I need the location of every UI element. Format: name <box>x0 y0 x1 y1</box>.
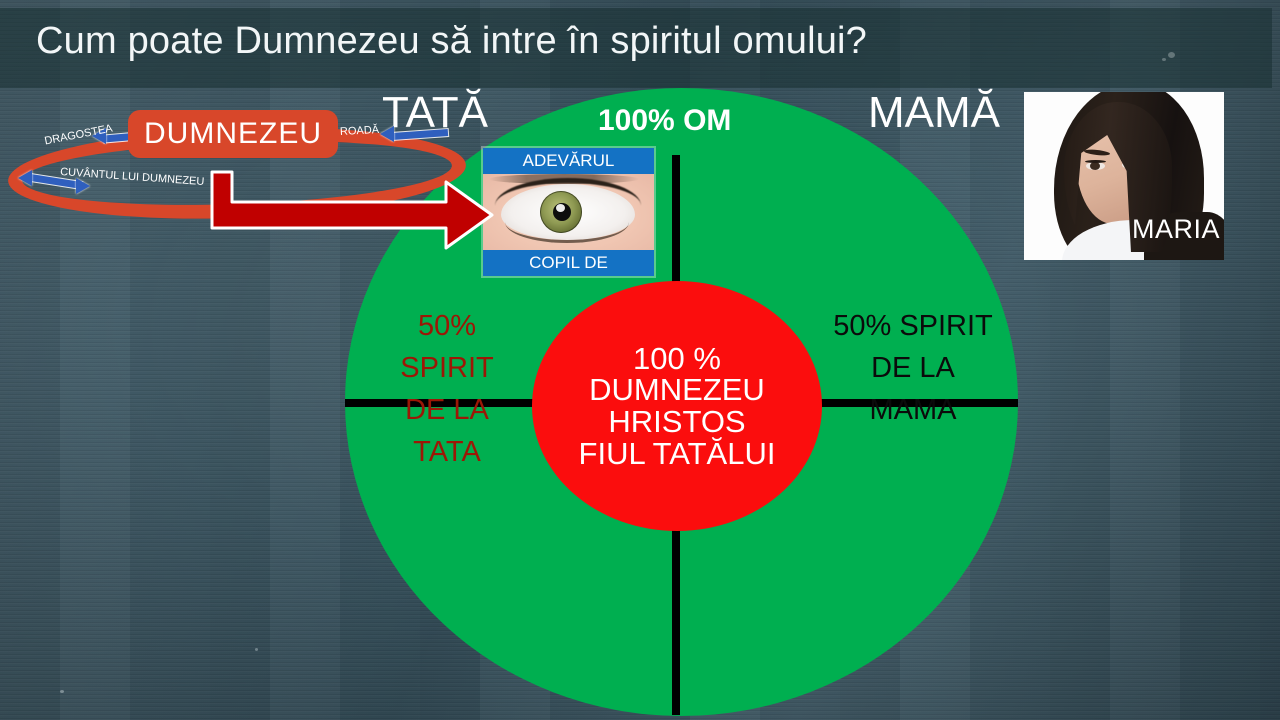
background-speck <box>255 648 258 651</box>
center-line1: 100 % <box>633 343 721 375</box>
center-christ-circle: 100 % DUMNEZEU HRISTOS FIUL TATĂLUI <box>532 281 822 531</box>
center-line4: FIUL TATĂLUI <box>579 438 776 470</box>
left-eyebrow-shape <box>1084 149 1110 157</box>
quadrant-label-mother-spirit: 50% SPIRIT DE LA MAMA <box>828 305 998 431</box>
background-speck <box>60 690 64 693</box>
truth-eye-card: ADEVĂRUL COPIL DE DUMNEZEU <box>483 148 654 276</box>
eye-card-top-label: ADEVĂRUL <box>483 148 654 174</box>
eye-photo <box>483 174 654 250</box>
quadrant-mother-line1: 50% SPIRIT <box>828 305 998 347</box>
label-mother: MAMĂ <box>868 88 1000 138</box>
tag-roada: ROADĂ <box>340 124 380 138</box>
god-to-spirit-arrow-icon <box>206 170 496 260</box>
eye-card-bottom-label: COPIL DE DUMNEZEU <box>483 250 654 276</box>
god-name-badge: DUMNEZEU <box>128 110 338 158</box>
center-line3: HRISTOS <box>608 406 745 438</box>
page-title: Cum poate Dumnezeu să intre în spiritul … <box>36 20 1136 63</box>
lower-eyelash <box>505 218 629 243</box>
quadrant-father-line1: 50% SPIRIT <box>372 305 522 389</box>
left-eye-shape <box>1086 162 1105 170</box>
quadrant-father-line2: DE LA TATA <box>372 389 522 473</box>
maria-label: MARIA <box>1132 214 1220 245</box>
center-line2: DUMNEZEU <box>589 374 765 406</box>
maria-photo-card: MARIA <box>1024 92 1224 260</box>
left-eyelid-shape <box>1085 160 1106 163</box>
label-100-percent-human: 100% OM <box>598 104 731 138</box>
slide-canvas: Cum poate Dumnezeu să intre în spiritul … <box>0 0 1280 720</box>
quadrant-label-father-spirit: 50% SPIRIT DE LA TATA <box>372 305 522 473</box>
quadrant-mother-line2: DE LA MAMA <box>828 347 998 431</box>
god-name-label: DUMNEZEU <box>144 117 322 151</box>
